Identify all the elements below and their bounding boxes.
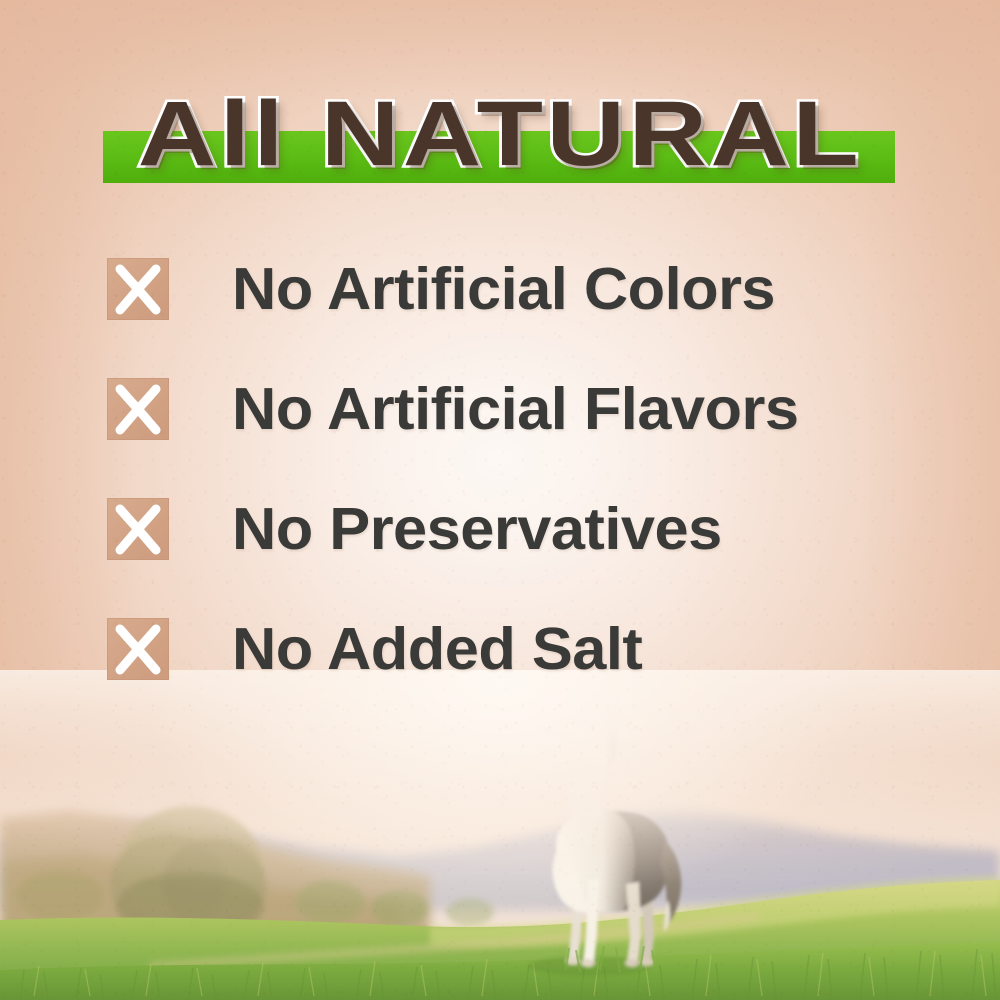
x-mark-glyph — [107, 618, 169, 680]
x-mark-icon — [107, 618, 169, 680]
claim-label: No Artificial Colors — [232, 258, 775, 320]
claim-label: No Added Salt — [232, 618, 642, 680]
x-mark-glyph — [107, 378, 169, 440]
x-mark-icon — [107, 498, 169, 560]
claim-label: No Preservatives — [232, 498, 722, 560]
claim-label: No Artificial Flavors — [232, 378, 798, 440]
title-banner: All NATURAL — [0, 78, 1000, 198]
x-mark-icon — [107, 378, 169, 440]
page-title: All NATURAL — [0, 78, 1000, 190]
x-mark-glyph — [107, 498, 169, 560]
list-item: No Added Salt — [107, 618, 927, 680]
list-item: No Preservatives — [107, 498, 927, 560]
list-item: No Artificial Flavors — [107, 378, 927, 440]
all-natural-poster: All NATURAL No Artificial Colors No Arti… — [0, 0, 1000, 1000]
x-mark-glyph — [107, 258, 169, 320]
x-mark-icon — [107, 258, 169, 320]
list-item: No Artificial Colors — [107, 258, 927, 320]
claims-list: No Artificial Colors No Artificial Flavo… — [107, 258, 927, 738]
